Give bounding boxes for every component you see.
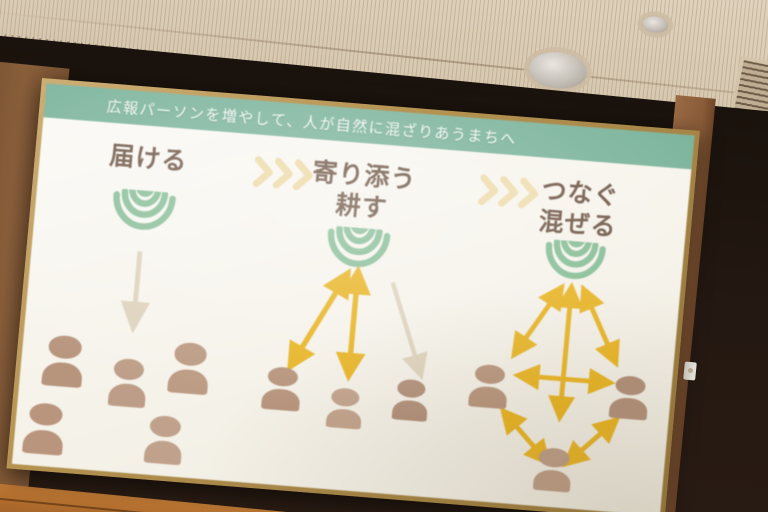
column-connect-headings: つなぐ 混ぜる xyxy=(537,175,620,242)
person-icon xyxy=(26,402,63,455)
engage-arrow-group xyxy=(228,213,468,498)
column-connect-diagram xyxy=(444,231,684,512)
person-icon xyxy=(536,447,570,492)
chevron-group-1 xyxy=(252,154,319,193)
ceiling-speaker-icon xyxy=(642,15,670,34)
chevron-group-2 xyxy=(477,172,544,211)
two-way-arrow-vertical xyxy=(349,280,357,368)
photo-scene: 広報パーソンを増やして、人が自然に混ざりあうまちへ xyxy=(0,0,768,512)
two-way-arrow-upper-left xyxy=(519,291,558,351)
ceiling-speaker-icon xyxy=(527,49,589,91)
column-deliver-diagram xyxy=(12,166,255,482)
column-engage-headings: 寄り添う 耕す xyxy=(308,157,417,226)
one-way-arrow-down xyxy=(134,251,140,317)
person-icon xyxy=(111,358,146,408)
person-icon xyxy=(265,366,299,411)
two-way-arrow-horizontal-center xyxy=(526,376,603,382)
two-way-arrow-vertical-center xyxy=(561,295,571,410)
one-way-arrow-diagonal-right xyxy=(385,282,426,367)
person-icon xyxy=(45,335,82,388)
screen-frame: 広報パーソンを増やして、人が自然に混ざりあうまちへ xyxy=(6,78,699,512)
person-icon xyxy=(395,379,427,421)
projector-screen: 広報パーソンを増やして、人が自然に混ざりあうまちへ xyxy=(6,78,699,512)
screen-surface: 広報パーソンを増やして、人が自然に混ざりあうまちへ xyxy=(12,83,695,512)
two-way-arrow-upper-right xyxy=(582,296,619,356)
slide-columns: 届ける xyxy=(12,117,691,512)
person-icon xyxy=(612,375,646,420)
wall-outlet-icon xyxy=(683,361,697,380)
person-icon xyxy=(147,415,182,465)
two-way-arrow-lower-right xyxy=(572,422,611,461)
person-icon xyxy=(472,363,506,408)
slide: 広報パーソンを増やして、人が自然に混ざりあうまちへ xyxy=(12,83,695,512)
column-engage-diagram xyxy=(228,213,468,498)
column-deliver: 届ける xyxy=(12,117,260,481)
person-icon xyxy=(329,387,361,429)
two-way-arrow-diagonal-left xyxy=(294,277,343,363)
person-icon xyxy=(171,342,208,395)
